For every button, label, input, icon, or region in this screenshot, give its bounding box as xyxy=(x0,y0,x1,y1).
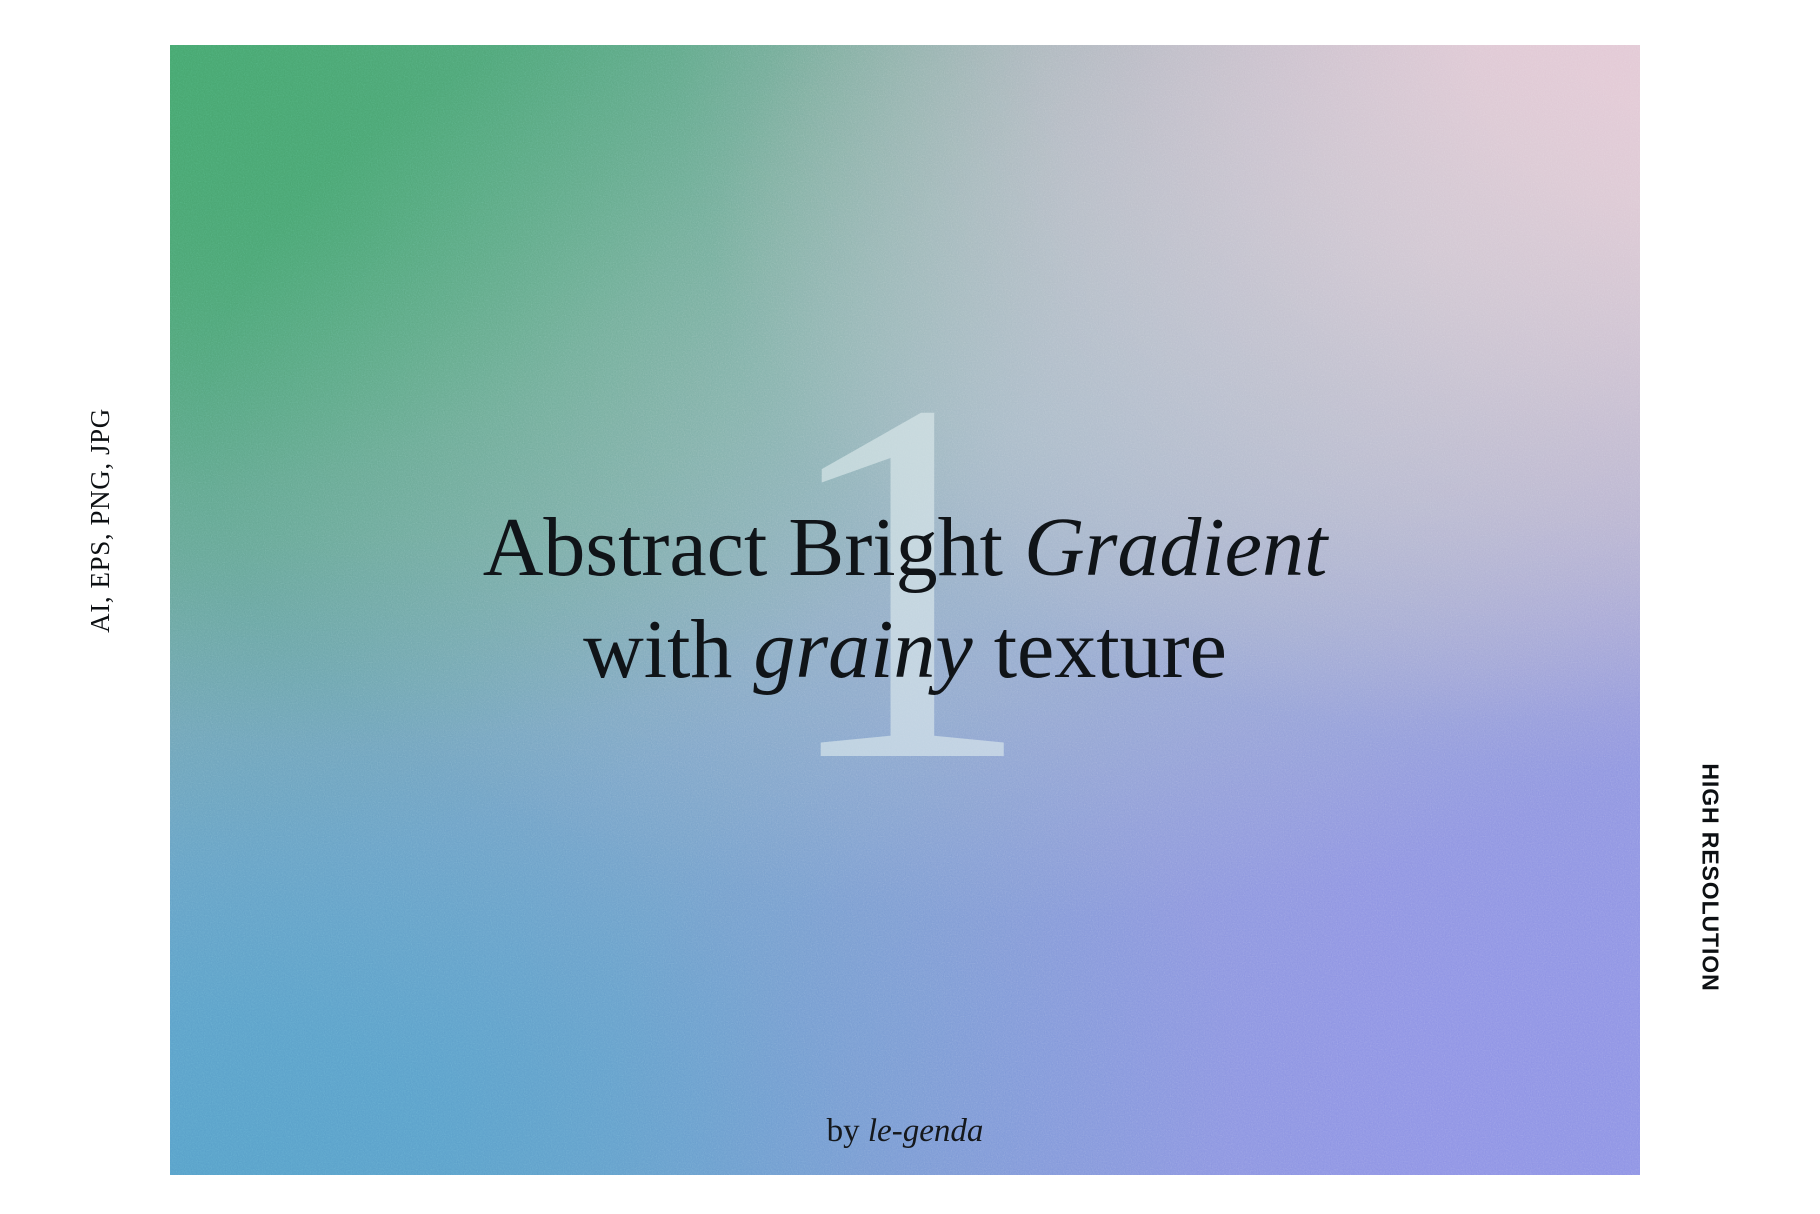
byline-author: le-genda xyxy=(868,1113,983,1149)
gradient-artwork-panel: 1 Abstract Bright Gradient with grainy t… xyxy=(170,45,1640,1175)
headline-line-1-regular: Abstract Bright xyxy=(483,501,1024,594)
high-resolution-label: HIGH RESOLUTION xyxy=(1697,763,1724,991)
headline-line-2-regular-b: texture xyxy=(973,603,1227,696)
byline: by le-genda xyxy=(170,1113,1640,1150)
right-vertical-label: HIGH RESOLUTION xyxy=(1688,752,1732,1002)
file-formats-label: AI, EPS, PNG, JPG xyxy=(85,408,116,633)
byline-prefix: by xyxy=(827,1113,868,1149)
headline-line-1: Abstract Bright Gradient xyxy=(170,497,1640,599)
page-root: 1 Abstract Bright Gradient with grainy t… xyxy=(0,0,1820,1214)
headline-line-2-regular-a: with xyxy=(583,603,753,696)
left-vertical-label: AI, EPS, PNG, JPG xyxy=(78,390,122,650)
headline: Abstract Bright Gradient with grainy tex… xyxy=(170,497,1640,702)
headline-line-2-italic: grainy xyxy=(753,603,972,696)
headline-line-1-italic: Gradient xyxy=(1024,501,1327,594)
headline-line-2: with grainy texture xyxy=(170,599,1640,701)
